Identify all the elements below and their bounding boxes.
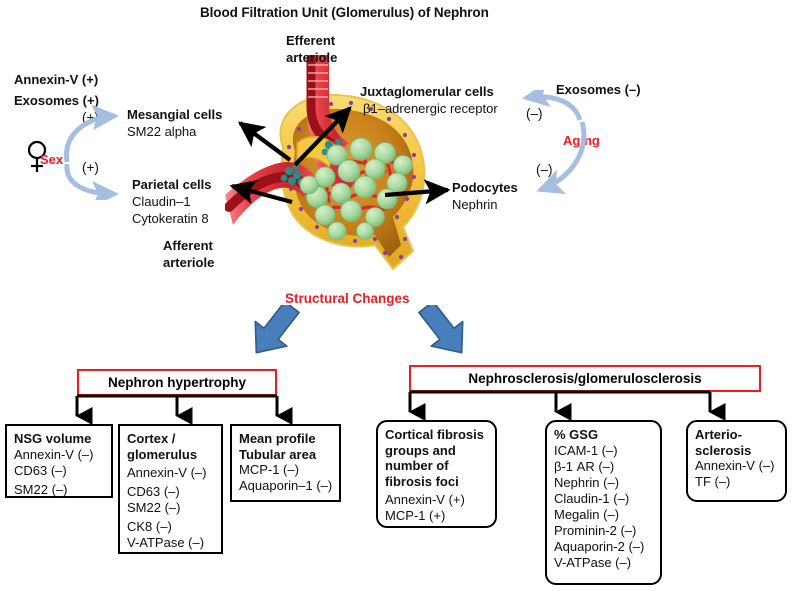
marker-parietal-cells-1: Claudin–1: [132, 194, 191, 209]
box-item: Annexin-V (–): [695, 458, 779, 474]
box-heading: Cortex /: [127, 431, 215, 447]
sex-marker-1: Annexin-V (+): [14, 72, 98, 87]
branch2-connectors: [390, 390, 740, 424]
box-item: Prominin-2 (–): [554, 523, 654, 539]
box-heading: Cortical fibrosis: [385, 427, 489, 443]
label-afferent-arteriole-line1: Afferent: [163, 238, 213, 253]
box-percent-gsg[interactable]: % GSG ICAM-1 (–) β-1 AR (–) Nephrin (–) …: [545, 420, 662, 585]
aging-curved-arrows: [508, 90, 618, 200]
marker-parietal-cells-2: Cytokeratin 8: [132, 211, 209, 226]
box-item: Nephrin (–): [554, 475, 654, 491]
branch-header-label: Nephrosclerosis/glomerulosclerosis: [468, 371, 701, 386]
label-parietal-cells: Parietal cells: [132, 177, 212, 192]
branch-header-nephron-hypertrophy[interactable]: Nephron hypertrophy: [77, 369, 277, 396]
box-item: Aquaporin–1 (–): [239, 478, 333, 494]
box-heading: sclerosis: [695, 443, 779, 459]
marker-podocytes: Nephrin: [452, 197, 498, 212]
box-item: Claudin-1 (–): [554, 491, 654, 507]
box-item: Aquaporin-2 (–): [554, 539, 654, 555]
box-nsg-volume[interactable]: NSG volume Annexin-V (–) CD63 (–) SM22 (…: [5, 424, 113, 498]
box-item: SM22 (–): [127, 500, 215, 516]
box-item: CD63 (–): [127, 484, 215, 500]
branch-header-nephrosclerosis[interactable]: Nephrosclerosis/glomerulosclerosis: [409, 365, 761, 392]
branch-header-label: Nephron hypertrophy: [108, 375, 246, 390]
box-heading: glomerulus: [127, 447, 215, 463]
box-item: CD63 (–): [14, 463, 105, 479]
label-afferent-arteriole-line2: arteriole: [163, 255, 214, 270]
box-item: MCP-1 (–): [239, 462, 333, 478]
box-cortex-glomerulus[interactable]: Cortex / glomerulus Annexin-V (–) CD63 (…: [118, 424, 223, 554]
box-heading: Tubular area: [239, 447, 333, 463]
label-juxtaglomerular-cells: Juxtaglomerular cells: [360, 84, 494, 99]
box-heading: NSG volume: [14, 431, 105, 447]
structural-changes-label: Structural Changes: [285, 291, 410, 306]
box-item: MCP-1 (+): [385, 508, 489, 524]
box-item: Annexin-V (+): [385, 492, 489, 508]
box-item: Annexin-V (–): [127, 465, 215, 481]
box-item: Megalin (–): [554, 507, 654, 523]
branch1-connectors: [60, 394, 300, 428]
box-item: TF (–): [695, 474, 779, 490]
label-efferent-arteriole-line1: Efferent: [286, 33, 335, 48]
box-item: Annexin-V (–): [14, 447, 105, 463]
marker-mesangial-cells: SM22 alpha: [127, 124, 196, 139]
box-item: V-ATPase (–): [554, 555, 654, 571]
box-item: V-ATPase (–): [127, 535, 215, 551]
box-mean-profile-tubular-area[interactable]: Mean profile Tubular area MCP-1 (–) Aqua…: [230, 424, 341, 502]
label-podocytes: Podocytes: [452, 180, 518, 195]
diagram-canvas: Blood Filtration Unit (Glomerulus) of Ne…: [0, 0, 793, 591]
box-heading: Mean profile: [239, 431, 333, 447]
box-heading: fibrosis foci: [385, 474, 489, 490]
box-heading: number of: [385, 458, 489, 474]
label-efferent-arteriole-line2: arteriole: [286, 50, 337, 65]
marker-juxtaglomerular-cells: β1–adrenergic receptor: [363, 101, 498, 116]
box-item: SM22 (–): [14, 482, 105, 498]
box-cortical-fibrosis[interactable]: Cortical fibrosis groups and number of f…: [376, 420, 497, 528]
label-mesangial-cells: Mesangial cells: [127, 107, 222, 122]
box-item: CK8 (–): [127, 519, 215, 535]
box-item: ICAM-1 (–): [554, 443, 654, 459]
box-item: β-1 AR (–): [554, 459, 654, 475]
box-heading: groups and: [385, 443, 489, 459]
box-heading: % GSG: [554, 427, 654, 443]
box-heading: Arterio-: [695, 427, 779, 443]
box-arteriosclerosis[interactable]: Arterio- sclerosis Annexin-V (–) TF (–): [686, 420, 787, 502]
